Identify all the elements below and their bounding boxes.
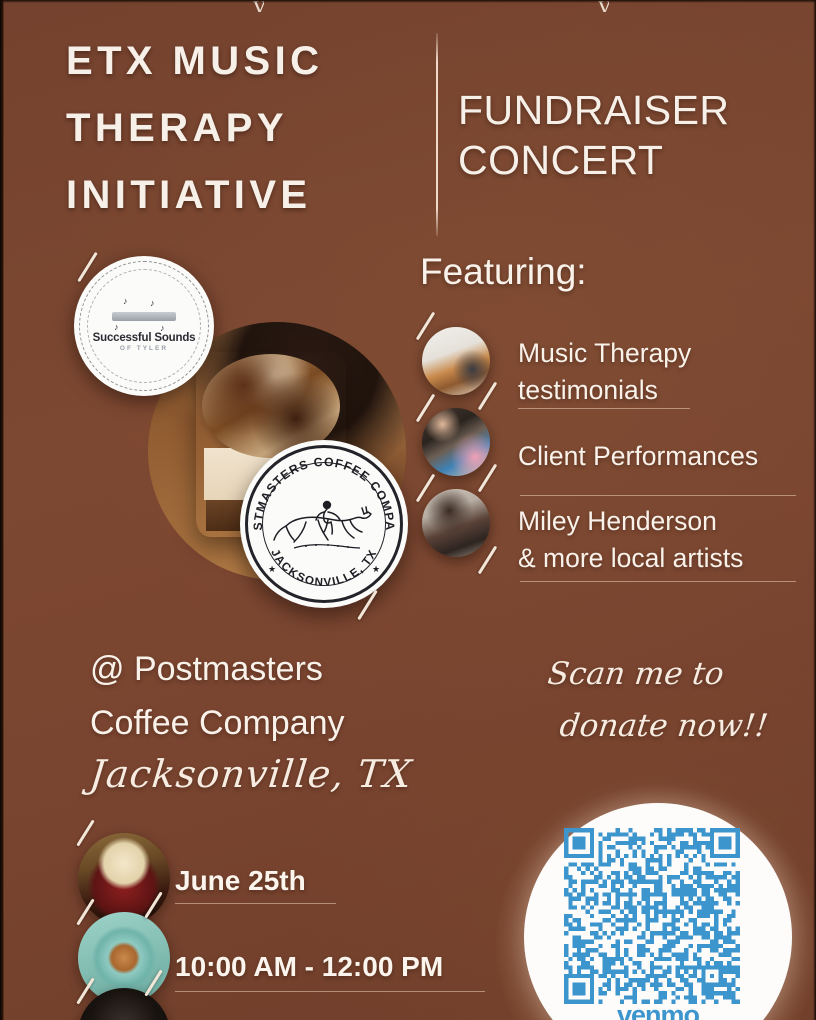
featuring-item-1-line-1: Music Therapy	[518, 335, 691, 372]
left-film-edge	[0, 0, 4, 1020]
featuring-item-2: Client Performances	[518, 438, 758, 475]
venmo-wordmark: venmo	[524, 1000, 792, 1020]
slash-mark-feat-1b	[478, 382, 498, 411]
time-divider	[175, 991, 485, 992]
featuring-item-3: Miley Henderson & more local artists	[518, 503, 743, 577]
org-title-line-1: ETX MUSIC	[66, 28, 426, 95]
featuring-item-1: Music Therapy testimonials	[518, 335, 691, 409]
venue-city: Jacksonville, TX	[88, 752, 415, 796]
org-title-line-3: INITIATIVE	[66, 162, 426, 229]
featuring-divider-2	[520, 495, 796, 496]
featuring-photo-3	[422, 489, 490, 557]
scan-prompt: Scan me to donate now!!	[548, 648, 788, 752]
org-title-line-2: THERAPY	[66, 95, 426, 162]
qr-code-icon[interactable]	[564, 828, 740, 1004]
header-vertical-divider	[436, 33, 438, 236]
featuring-item-3-line-1: Miley Henderson	[518, 503, 743, 540]
featuring-photo-2	[422, 408, 490, 476]
successful-sounds-logo: ♪ ♪ ♪ ♪ Successful Sounds OF TYLER	[74, 256, 214, 396]
sounds-logo-name: Successful Sounds	[74, 332, 214, 344]
event-title: FUNDRAISER CONCERT	[458, 85, 808, 185]
scan-prompt-line-1: Scan me to	[545, 648, 791, 700]
event-title-line-2: CONCERT	[458, 135, 808, 185]
venue-block: @ Postmasters Coffee Company	[90, 642, 345, 750]
date-divider	[175, 903, 336, 904]
featuring-divider-1	[518, 408, 690, 409]
slash-mark-feat-2b	[478, 464, 498, 493]
seal-star-right: ★	[372, 564, 380, 575]
venue-line-2: Coffee Company	[90, 696, 345, 750]
organization-title: ETX MUSIC THERAPY INITIATIVE	[66, 28, 426, 229]
featuring-item-1-line-2: testimonials	[518, 372, 691, 409]
featuring-divider-3	[520, 581, 796, 582]
venue-line-1: @ Postmasters	[90, 642, 345, 696]
event-title-line-1: FUNDRAISER	[458, 85, 808, 135]
featuring-photo-1	[422, 327, 490, 395]
event-time: 10:00 AM - 12:00 PM	[175, 951, 443, 983]
event-date: June 25th	[175, 865, 306, 897]
top-film-edge	[0, 0, 816, 3]
postmasters-coffee-logo: POSTMASTERS COFFEE COMPANY JACKSONVILLE,…	[240, 440, 408, 608]
featuring-item-2-line-1: Client Performances	[518, 438, 758, 475]
sounds-logo-sub: OF TYLER	[74, 345, 214, 352]
slash-mark-feat-3b	[478, 546, 498, 575]
flyer-poster: v v - ETX MUSIC THERAPY INITIATIVE FUNDR…	[0, 0, 816, 1020]
scan-prompt-line-2: donate now!!	[557, 700, 791, 752]
event-date-block: June 25th	[175, 865, 306, 897]
featuring-item-3-line-2: & more local artists	[518, 540, 743, 577]
event-time-block: 10:00 AM - 12:00 PM	[175, 951, 443, 983]
horse-and-rider-icon	[270, 496, 378, 556]
featuring-heading: Featuring:	[420, 251, 587, 293]
seal-star-left: ★	[268, 564, 276, 575]
coffee-cup-dark-icon	[78, 988, 170, 1020]
slash-mark-cup-1a	[76, 819, 94, 846]
